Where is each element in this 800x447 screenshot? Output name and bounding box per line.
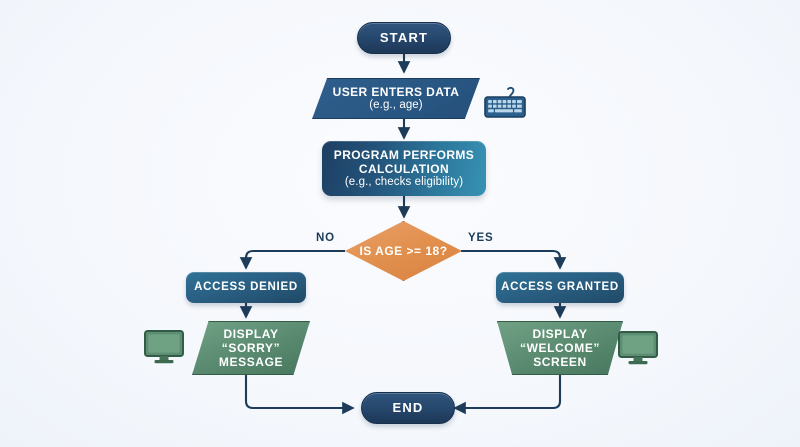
node-end-label: END: [392, 400, 423, 415]
node-calculation-line1: PROGRAM PERFORMS: [334, 148, 474, 162]
node-display-welcome-text: DISPLAY “WELCOME” SCREEN: [520, 327, 600, 369]
node-calculation-line1b: CALCULATION: [334, 162, 474, 176]
edge-label-no: NO: [316, 232, 335, 244]
node-display-sorry-text: DISPLAY “SORRY” MESSAGE: [219, 327, 283, 369]
keyboard-icon: [483, 86, 527, 125]
node-access-granted[interactable]: ACCESS GRANTED: [496, 272, 624, 303]
connector-sorry-to-end: [246, 374, 353, 408]
node-display-welcome-line1: DISPLAY: [520, 327, 600, 341]
connector-welcome-to-end: [455, 374, 560, 408]
flowchart-canvas: START USER ENTERS DATA (e.g., age): [0, 0, 800, 447]
node-end[interactable]: END: [361, 392, 455, 424]
node-user-input-text: USER ENTERS DATA (e.g., age): [333, 85, 460, 113]
edge-label-yes: YES: [468, 232, 493, 244]
node-access-denied-label: ACCESS DENIED: [194, 281, 298, 295]
node-start[interactable]: START: [357, 22, 451, 54]
connector-decision-no: [246, 251, 345, 268]
node-display-sorry-line2: MESSAGE: [219, 355, 283, 369]
node-user-input[interactable]: USER ENTERS DATA (e.g., age): [312, 78, 480, 119]
node-calculation-line2: (e.g., checks eligibility): [334, 176, 474, 190]
node-calculation[interactable]: PROGRAM PERFORMS CALCULATION (e.g., chec…: [322, 141, 486, 196]
node-decision-label: IS AGE >= 18?: [359, 244, 447, 258]
node-user-input-line1: USER ENTERS DATA: [333, 85, 460, 99]
monitor-icon: [617, 330, 659, 371]
node-user-input-line2: (e.g., age): [333, 99, 460, 113]
node-display-welcome-line1b: “WELCOME”: [520, 341, 600, 355]
node-display-sorry-line1b: “SORRY”: [219, 341, 283, 355]
node-access-granted-label: ACCESS GRANTED: [501, 281, 619, 295]
node-calculation-text: PROGRAM PERFORMS CALCULATION (e.g., chec…: [334, 148, 474, 190]
node-display-welcome-line2: SCREEN: [520, 355, 600, 369]
monitor-icon: [143, 329, 185, 370]
node-start-label: START: [380, 30, 428, 45]
node-display-sorry[interactable]: DISPLAY “SORRY” MESSAGE: [192, 321, 310, 375]
node-display-sorry-line1: DISPLAY: [219, 327, 283, 341]
node-display-welcome[interactable]: DISPLAY “WELCOME” SCREEN: [497, 321, 623, 375]
connector-decision-yes: [461, 251, 560, 268]
node-access-denied[interactable]: ACCESS DENIED: [186, 272, 306, 303]
